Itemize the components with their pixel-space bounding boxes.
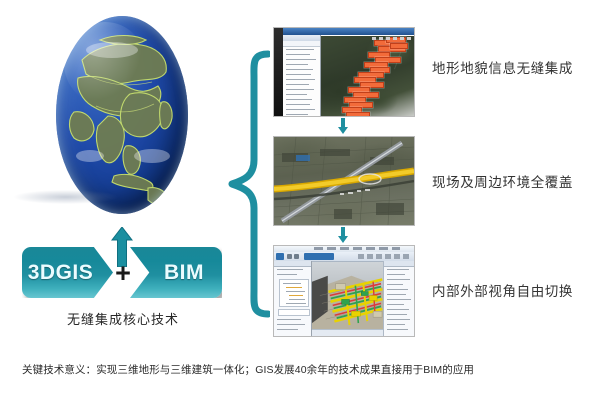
terrain-app-window — [274, 28, 414, 116]
down-arrow-1-icon — [337, 118, 349, 134]
globe-landmass — [56, 16, 188, 214]
map-toolbar-strip[interactable] — [372, 37, 412, 40]
ribbon-icon[interactable] — [287, 254, 292, 259]
earth-globe — [56, 16, 188, 214]
badge-bim[interactable]: BIM — [130, 247, 222, 298]
badge-3dgis-label: 3DGIS — [28, 261, 94, 285]
down-arrow-2-icon — [337, 227, 349, 243]
app-titlebar — [283, 28, 414, 35]
map-label — [390, 43, 408, 49]
globe-drop-shadow — [14, 190, 118, 204]
aerial-features — [274, 137, 414, 225]
browser-search-field[interactable] — [278, 309, 310, 316]
footer-note: 关键技术意义：实现三维地形与三维建筑一体化；GIS发展40余年的技术成果直接用于… — [22, 362, 474, 377]
layer-tree-panel[interactable] — [283, 35, 321, 116]
feature-label-aerial: 现场及周边环境全覆盖 — [432, 171, 573, 191]
badge-bim-label: BIM — [164, 261, 204, 285]
bim-status-bar — [312, 329, 383, 336]
bim-model-screenshot[interactable] — [273, 245, 415, 337]
mep-model-geometry — [312, 262, 383, 329]
globe-sphere — [56, 16, 188, 214]
ribbon-icon[interactable] — [294, 254, 299, 259]
project-browser-panel[interactable] — [274, 261, 312, 336]
ribbon-tab-active[interactable] — [304, 253, 334, 260]
browser-tree-box[interactable] — [279, 279, 309, 307]
bim-3d-viewport[interactable] — [312, 262, 383, 329]
browser-header — [274, 261, 311, 267]
plus-operator: + — [113, 262, 133, 284]
aerial-photo-view — [274, 137, 414, 225]
feature-label-bim: 内部外部视角自由切换 — [432, 280, 573, 300]
app-menu-button[interactable] — [276, 253, 284, 260]
properties-panel[interactable] — [383, 261, 414, 336]
ribbon-tools[interactable] — [358, 254, 412, 259]
terrain-map-viewport[interactable] — [320, 36, 414, 116]
map-label — [346, 112, 370, 117]
badge-3dgis[interactable]: 3DGIS — [22, 247, 113, 298]
curly-brace — [228, 48, 270, 320]
app-icon-rail[interactable] — [274, 28, 283, 116]
feature-label-terrain: 地形地貌信息无缝集成 — [432, 57, 573, 77]
aerial-corridor-screenshot[interactable] — [273, 136, 415, 226]
core-technology-caption: 无缝集成核心技术 — [20, 309, 226, 328]
bim-title-text — [314, 247, 400, 250]
properties-header — [384, 261, 414, 267]
tree-panel-toolbar[interactable] — [283, 41, 320, 47]
bim-app-window — [274, 246, 414, 336]
gis-terrain-screenshot[interactable] — [273, 27, 415, 117]
